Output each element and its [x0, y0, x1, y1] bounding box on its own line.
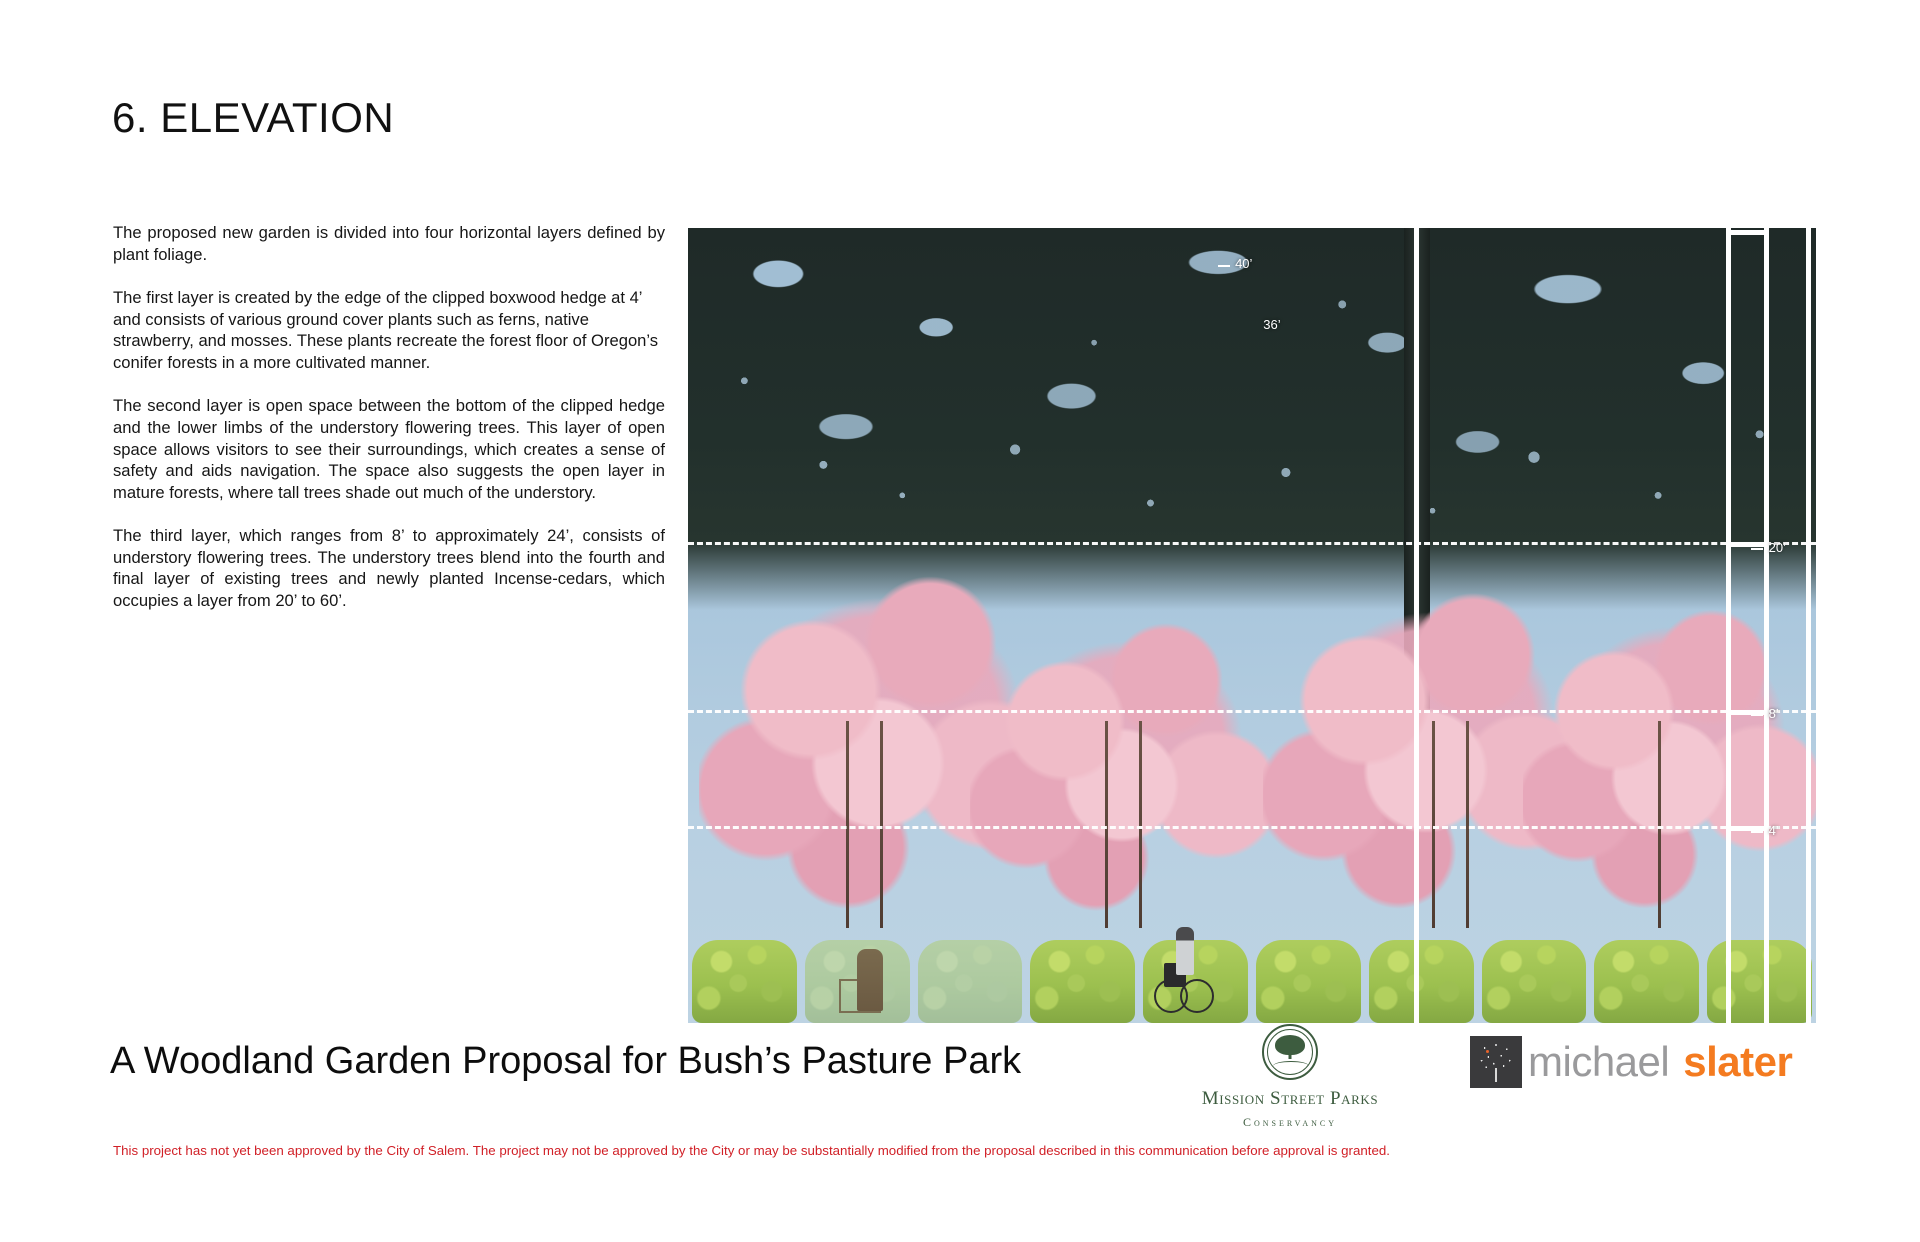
hedge-shrub [1256, 940, 1361, 1023]
tree-limb [1139, 721, 1142, 928]
board-title: A Woodland Garden Proposal for Bush’s Pa… [110, 1040, 1021, 1083]
hedge-shrub [1369, 940, 1474, 1023]
hedge-shrub [692, 940, 797, 1023]
accent-dot-shape [1486, 1050, 1489, 1053]
disclaimer-text: This project has not yet been approved b… [113, 1143, 1390, 1158]
elevation-label-40ft: 40’ [1235, 256, 1252, 271]
elevation-tick-20ft [1751, 548, 1763, 550]
reference-line-4ft [688, 826, 1816, 829]
elevation-tick-8ft [1751, 714, 1763, 716]
tree-limb [1466, 721, 1469, 928]
flowering-tree-canopy [970, 610, 1286, 928]
ruler-crossbar-top [1726, 230, 1764, 235]
hedge-shrub [1594, 940, 1699, 1023]
hedge-shrub [1707, 940, 1812, 1023]
tree-limb [846, 721, 849, 928]
tree-limb [1105, 721, 1108, 928]
logo-word-michael: michael [1528, 1038, 1669, 1086]
overstory-canopy [688, 228, 1816, 610]
tree-emblem-icon [1262, 1024, 1318, 1080]
page-title: 6. ELEVATION [112, 94, 394, 142]
tree-trunk-shape [1289, 1050, 1292, 1059]
mission-street-parks-logo: Mission Street Parks Conservancy [1200, 1024, 1380, 1130]
scale-ruler-center [1414, 228, 1419, 1023]
reference-line-24ft [688, 542, 1816, 545]
paragraph-intro: The proposed new garden is divided into … [113, 222, 665, 265]
elevation-tick-4ft [1751, 831, 1763, 833]
paragraph-layer-two: The second layer is open space between t… [113, 395, 665, 503]
tree-limb [1432, 721, 1435, 928]
elevation-label-8ft: 8’ [1769, 706, 1779, 721]
elevation-rendering: 40’ 36’ 20’ 8’ 4’ [688, 228, 1816, 1023]
scale-ruler-outer [1806, 228, 1811, 1023]
tree-limb [1658, 721, 1661, 928]
scale-ruler-middle [1764, 228, 1769, 1023]
hedge-shrub [918, 940, 1023, 1023]
description-text-block: The proposed new garden is divided into … [113, 222, 665, 611]
elevation-label-36ft: 36’ [1263, 317, 1280, 332]
logo-line-1: Mission Street Parks [1200, 1088, 1380, 1110]
hedge-shrub [1030, 940, 1135, 1023]
hedge-shrub [1482, 940, 1587, 1023]
reference-line-8ft [688, 710, 1816, 713]
elevation-label-20ft: 20’ [1769, 540, 1786, 555]
presentation-board: 6. ELEVATION The proposed new garden is … [0, 0, 1920, 1242]
logo-word-slater: slater [1683, 1038, 1792, 1086]
logo-stem-shape [1495, 1068, 1497, 1082]
cyclist-body [1176, 927, 1194, 975]
scale-figure-seated-person [857, 949, 883, 1011]
logo-line-2: Conservancy [1200, 1115, 1380, 1130]
ruler-crossbar-20ft [1726, 542, 1764, 547]
tree-limb [880, 721, 883, 928]
scale-ruler-inner [1726, 228, 1731, 1023]
ground-arc-shape [1273, 1061, 1309, 1071]
paragraph-layer-three: The third layer, which ranges from 8’ to… [113, 525, 665, 611]
elevation-label-4ft: 4’ [1769, 823, 1779, 838]
paragraph-layer-one: The first layer is created by the edge o… [113, 287, 665, 373]
elevation-tick-40ft [1218, 265, 1230, 267]
scale-figure-cyclist [1156, 927, 1210, 1013]
dotted-tree-icon [1470, 1036, 1522, 1088]
michael-slater-logo: michael slater [1470, 1036, 1792, 1088]
flowering-tree-canopy [1523, 594, 1816, 928]
